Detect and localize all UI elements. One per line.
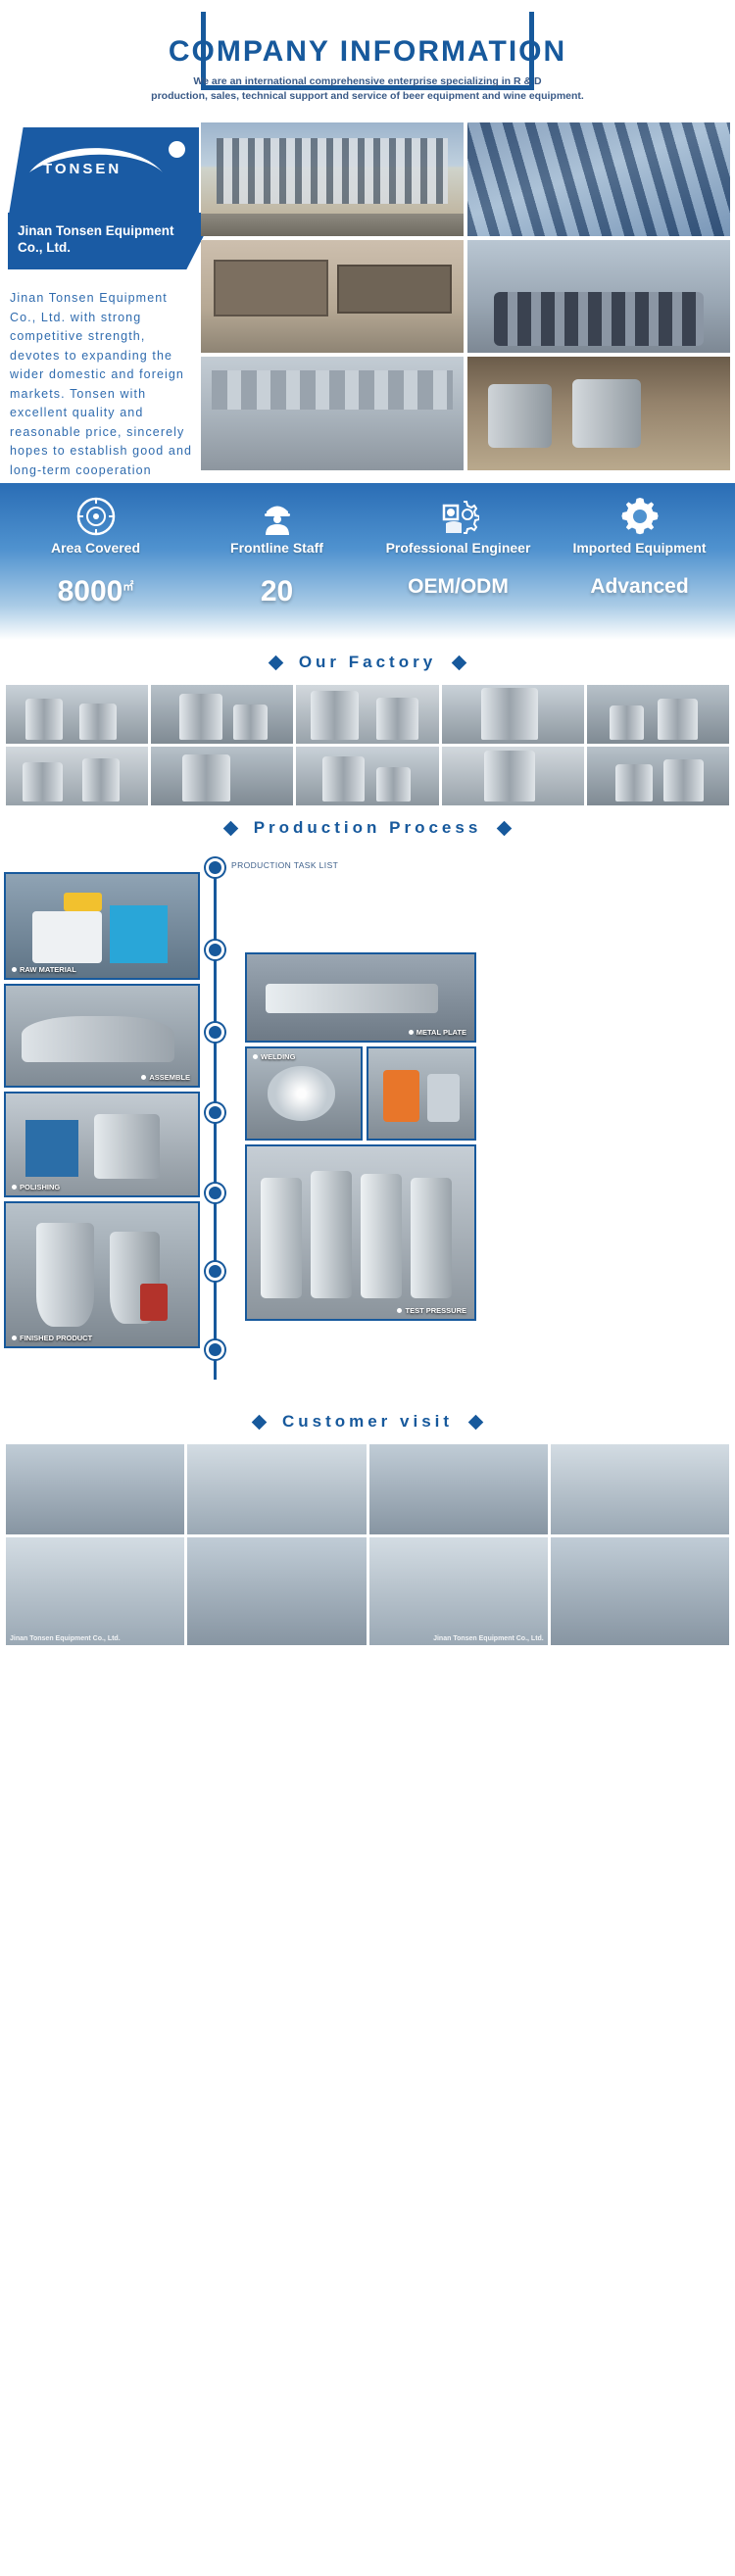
process-node-label: PRODUCTION TASK LIST: [231, 860, 338, 870]
stat-unit: ㎡: [122, 581, 133, 593]
diamond-icon: [269, 655, 284, 670]
factory-photo: [6, 747, 148, 805]
company-photo: [467, 122, 730, 236]
stat-label: Imported Equipment: [572, 540, 706, 573]
bullet-icon: [12, 1336, 17, 1340]
label-text: WELDING: [261, 1052, 295, 1061]
bullet-icon: [253, 1054, 258, 1059]
visit-photo: [187, 1537, 366, 1645]
process-photo-polishing: POLISHING: [4, 1092, 200, 1197]
process-node: [206, 1103, 224, 1122]
customer-visit-grid-row1: [0, 1444, 735, 1534]
diamond-icon: [222, 820, 238, 836]
engineer-gear-icon: [438, 493, 479, 540]
section-title: Our Factory: [299, 653, 436, 672]
label-text: FINISHED PRODUCT: [20, 1334, 92, 1342]
process-photo-welding: WELDING: [245, 1046, 363, 1141]
logo-wordmark: TONSEN: [43, 161, 122, 177]
factory-photo: [442, 685, 584, 744]
company-description: Jinan Tonsen Equipment Co., Ltd. with st…: [10, 289, 196, 500]
page-header: COMPANY INFORMATION We are an internatio…: [0, 0, 735, 122]
visit-photo: [187, 1444, 366, 1534]
production-process-section: PRODUCTION TASK LIST RAW MATERIAL ASSEMB…: [0, 851, 735, 1399]
process-photo-label: POLISHING: [12, 1183, 60, 1191]
process-photo-raw-material: RAW MATERIAL: [4, 872, 200, 980]
process-photo-workshop: [367, 1046, 476, 1141]
process-photo-label: ASSEMBLE: [141, 1073, 190, 1082]
stat-card-area-covered: Area Covered 8000㎡: [8, 483, 183, 640]
stat-label: Area Covered: [51, 540, 140, 573]
factory-photo: [151, 685, 293, 744]
visit-photo: Jinan Tonsen Equipment Co., Ltd.: [369, 1537, 548, 1645]
label-text: METAL PLATE: [416, 1028, 466, 1037]
company-photo-grid: tonsenbrew: [201, 122, 730, 470]
bullet-icon: [409, 1030, 414, 1035]
company-name-line2: Co., Ltd.: [18, 239, 216, 256]
company-name-tag: Jinan Tonsen Equipment Co., Ltd.: [8, 213, 216, 269]
factory-photo: [296, 685, 438, 744]
company-photo: [467, 240, 730, 354]
label-text: RAW MATERIAL: [20, 965, 76, 974]
process-node: [206, 1023, 224, 1042]
factory-photo: [6, 685, 148, 744]
company-photo: tonsenbrew: [201, 122, 464, 236]
bullet-icon: [12, 967, 17, 972]
process-photo-label: WELDING: [253, 1052, 295, 1061]
bullet-icon: [12, 1185, 17, 1190]
section-heading-process: Production Process: [0, 805, 735, 851]
stat-card-frontline-staff: Frontline Staff 20: [189, 483, 365, 640]
company-photo-label: tonsenbrew: [207, 225, 245, 232]
process-node: [206, 941, 224, 959]
section-title: Customer visit: [282, 1412, 453, 1432]
label-text: TEST PRESSURE: [405, 1306, 466, 1315]
stat-value: Advanced: [590, 575, 688, 599]
stat-value: 8000㎡: [58, 575, 134, 608]
stat-number: 8000: [58, 575, 123, 608]
process-photo-assemble: ASSEMBLE: [4, 984, 200, 1088]
visit-photo: [369, 1444, 548, 1534]
process-node: [206, 1184, 224, 1202]
label-text: POLISHING: [20, 1183, 60, 1191]
stat-card-imported-equipment: Imported Equipment Advanced: [552, 483, 727, 640]
factory-photo: [151, 747, 293, 805]
company-photo: [201, 240, 464, 354]
label-text: ASSEMBLE: [149, 1073, 190, 1082]
factory-photo: [587, 685, 729, 744]
worker-icon: [257, 493, 298, 540]
bullet-icon: [141, 1075, 146, 1080]
disc-icon: [75, 493, 117, 540]
section-heading-factory: Our Factory: [0, 640, 735, 685]
process-photo-label: FINISHED PRODUCT: [12, 1334, 92, 1342]
process-photo-label: METAL PLATE: [409, 1028, 466, 1037]
stat-value: OEM/ODM: [408, 575, 509, 599]
factory-photo: [442, 747, 584, 805]
process-photo-finished-product: FINISHED PRODUCT: [4, 1201, 200, 1348]
company-information-page: COMPANY INFORMATION We are an internatio…: [0, 0, 735, 2576]
process-node: [206, 1340, 224, 1359]
diamond-icon: [252, 1414, 268, 1430]
stat-value: 20: [261, 575, 293, 608]
stat-label: Frontline Staff: [230, 540, 323, 573]
company-photo: [467, 357, 730, 470]
gear-icon: [619, 493, 661, 540]
company-intro-section: TONSEN Jinan Tonsen Equipment Co., Ltd. …: [0, 122, 735, 475]
customer-visit-grid-row2: Jinan Tonsen Equipment Co., Ltd. Jinan T…: [0, 1534, 735, 1645]
diamond-icon: [468, 1414, 484, 1430]
process-node: [206, 1262, 224, 1281]
process-photo-label: RAW MATERIAL: [12, 965, 76, 974]
watermark-left: Jinan Tonsen Equipment Co., Ltd.: [10, 1635, 121, 1642]
company-stats-band: Area Covered 8000㎡ Frontline Staff 20: [0, 483, 735, 640]
page-title: COMPANY INFORMATION: [0, 35, 735, 69]
tonsen-logo-badge: TONSEN: [8, 127, 199, 220]
factory-photo: [587, 747, 729, 805]
visit-photo: Jinan Tonsen Equipment Co., Ltd.: [6, 1537, 184, 1645]
section-heading-visit: Customer visit: [0, 1399, 735, 1444]
header-subtitle-line2: production, sales, technical support and…: [0, 90, 735, 102]
watermark-right: Jinan Tonsen Equipment Co., Ltd.: [433, 1635, 544, 1642]
visit-photo: [551, 1537, 729, 1645]
company-name-line1: Jinan Tonsen Equipment: [18, 222, 216, 239]
process-photo-test-pressure: TEST PRESSURE: [245, 1144, 476, 1321]
bullet-icon: [397, 1308, 402, 1313]
section-title: Production Process: [254, 818, 482, 838]
visit-photo: [551, 1444, 729, 1534]
company-photo: [201, 357, 464, 470]
process-node: [206, 858, 224, 877]
header-subtitle-line1: We are an international comprehensive en…: [0, 75, 735, 87]
process-photo-label: TEST PRESSURE: [397, 1306, 466, 1315]
diamond-icon: [452, 655, 467, 670]
factory-photo-grid: [0, 685, 735, 805]
process-photo-metal-plate: METAL PLATE: [245, 952, 476, 1043]
stat-card-professional-engineer: Professional Engineer OEM/ODM: [370, 483, 546, 640]
diamond-icon: [497, 820, 513, 836]
logo-dot-icon: [169, 141, 185, 158]
visit-photo: [6, 1444, 184, 1534]
factory-photo: [296, 747, 438, 805]
header-bracket-gap: [220, 7, 514, 23]
stat-label: Professional Engineer: [386, 540, 531, 573]
